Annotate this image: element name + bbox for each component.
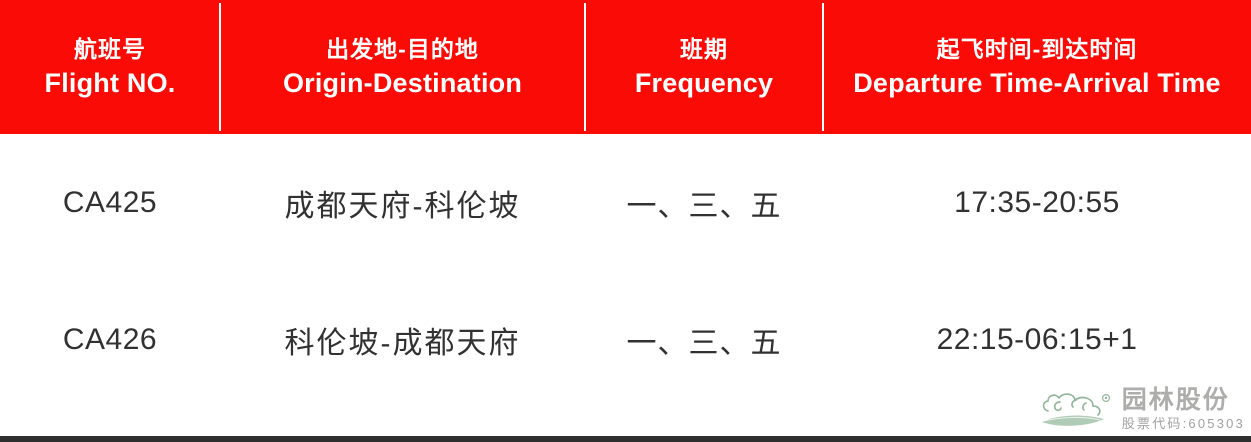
flight-schedule-table: 航班号 Flight NO. 出发地-目的地 Origin-Destinatio… [0,0,1251,442]
table-body: CA425 成都天府-科伦坡 一、三、五 17:35-20:55 CA426 科… [0,134,1251,408]
column-header-departure-arrival-time-en: Departure Time-Arrival Time [853,68,1221,99]
column-header-origin-destination-en: Origin-Destination [283,68,522,99]
cell-frequency: 一、三、五 [585,134,823,271]
column-header-departure-arrival-time-cn: 起飞时间-到达时间 [937,35,1138,64]
watermark-brand-name: 园林股份 [1122,387,1230,413]
column-header-frequency: 班期 Frequency [585,0,823,134]
watermark-logo: 园林股份 股票代码:605303 [1038,387,1245,432]
table-row: CA425 成都天府-科伦坡 一、三、五 17:35-20:55 [0,134,1251,271]
column-header-flight-no: 航班号 Flight NO. [0,0,220,134]
column-header-frequency-cn: 班期 [680,35,728,64]
bottom-bar [0,436,1251,442]
cell-flight-no: CA426 [0,271,220,408]
column-header-frequency-en: Frequency [635,68,773,99]
cell-frequency: 一、三、五 [585,271,823,408]
column-header-origin-destination-cn: 出发地-目的地 [326,35,479,64]
column-header-flight-no-en: Flight NO. [45,68,176,99]
column-header-flight-no-cn: 航班号 [74,35,146,64]
column-header-departure-arrival-time: 起飞时间-到达时间 Departure Time-Arrival Time [823,0,1251,134]
cell-origin-destination: 科伦坡-成都天府 [220,271,585,408]
watermark-stock-code: 股票代码:605303 [1122,416,1245,432]
cloud-tree-logo-icon [1038,388,1116,432]
column-header-origin-destination: 出发地-目的地 Origin-Destination [220,0,585,134]
watermark-text: 园林股份 股票代码:605303 [1122,387,1245,432]
cell-origin-destination: 成都天府-科伦坡 [220,134,585,271]
table-header-row: 航班号 Flight NO. 出发地-目的地 Origin-Destinatio… [0,0,1251,134]
cell-flight-no: CA425 [0,134,220,271]
cell-departure-arrival-time: 17:35-20:55 [823,134,1251,271]
